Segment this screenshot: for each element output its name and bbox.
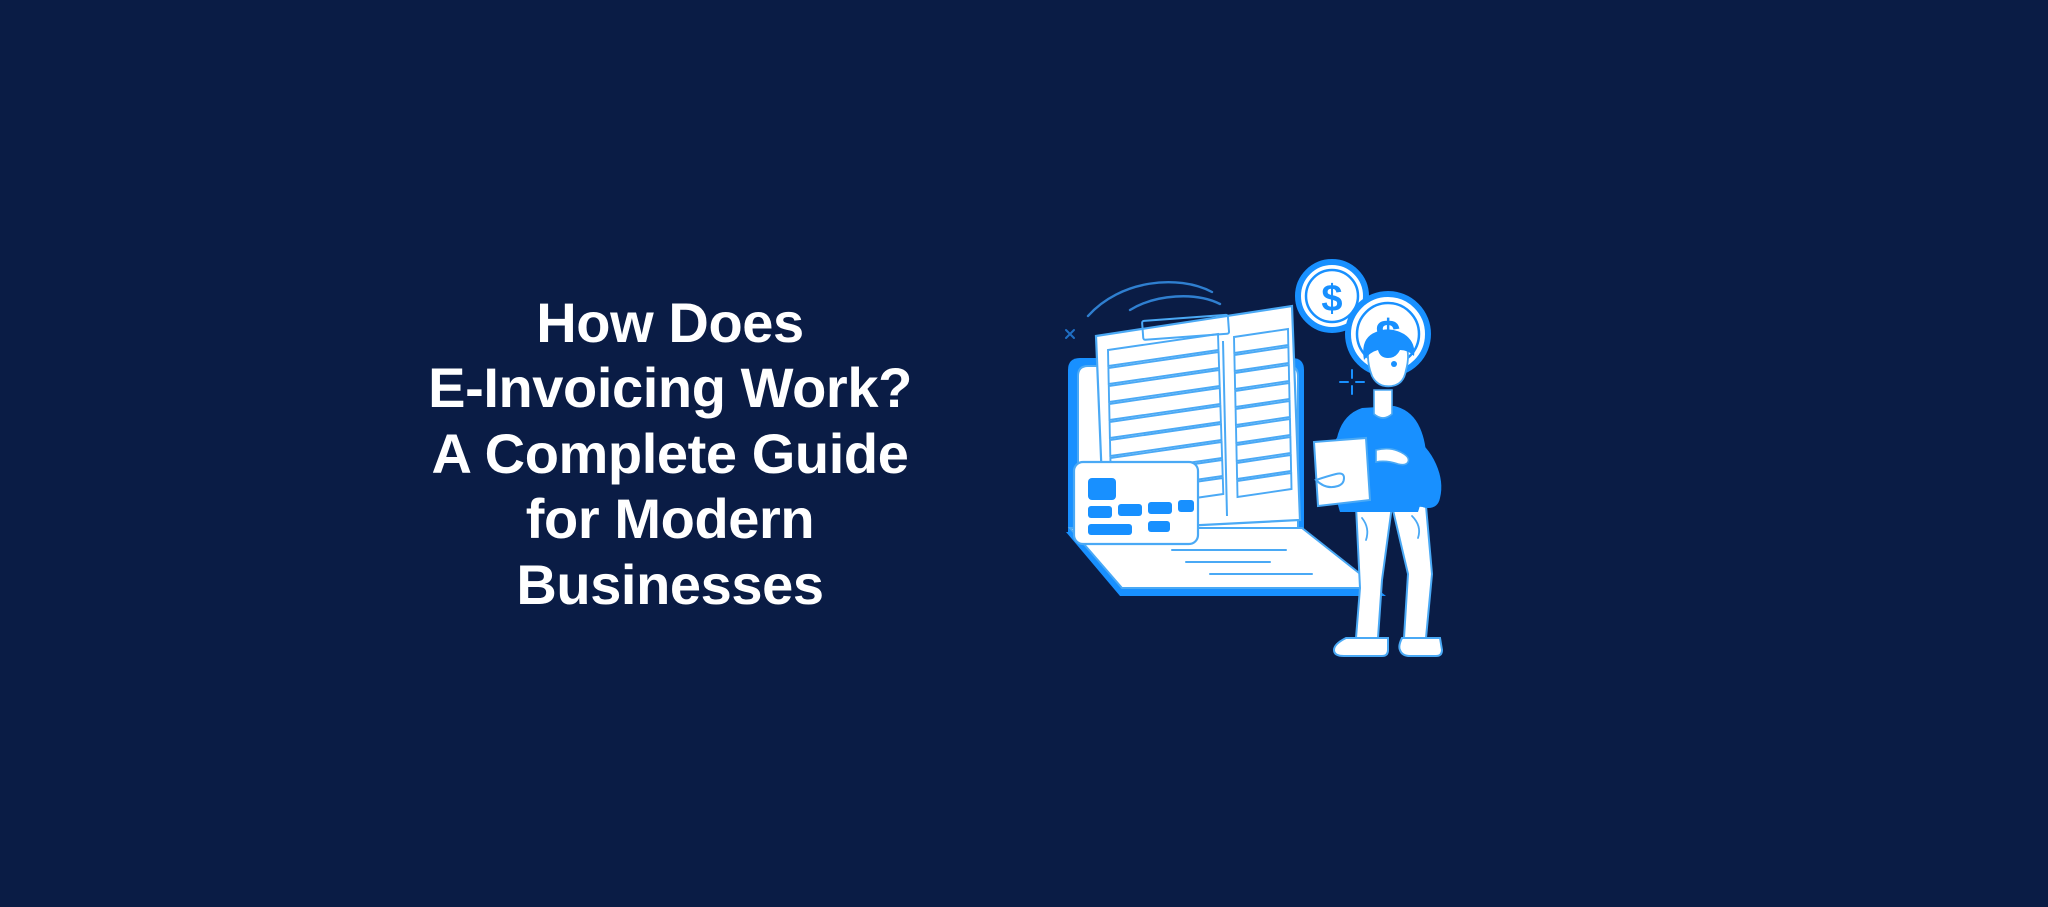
banner-root: How Does E-Invoicing Work? A Complete Gu… xyxy=(0,0,2048,907)
person-shoe-left xyxy=(1334,638,1388,656)
signal-waves-icon xyxy=(1088,282,1220,316)
person-figure xyxy=(1314,329,1442,656)
hero-illustration: $ $ xyxy=(1040,244,1500,664)
person-leg-front xyxy=(1392,506,1432,638)
person-clipboard xyxy=(1314,438,1370,506)
person-shoe-right xyxy=(1399,638,1442,656)
e-invoicing-illustration: $ $ xyxy=(1060,244,1480,664)
sparkle-accent-icon xyxy=(1340,370,1364,394)
sparkle-marks-icon xyxy=(1066,330,1074,338)
dollar-coin-small-symbol: $ xyxy=(1321,278,1342,320)
credit-card-name-bar xyxy=(1088,524,1132,535)
person-neck xyxy=(1374,390,1392,418)
credit-card xyxy=(1074,462,1198,544)
person-eye xyxy=(1391,361,1397,367)
banner-content: How Does E-Invoicing Work? A Complete Gu… xyxy=(0,0,2048,907)
page-title: How Does E-Invoicing Work? A Complete Gu… xyxy=(428,290,912,618)
credit-card-expiry-bar xyxy=(1148,521,1170,532)
hero-text-column: How Does E-Invoicing Work? A Complete Gu… xyxy=(360,290,980,618)
person-leg-back xyxy=(1356,506,1392,638)
credit-card-chip xyxy=(1088,478,1116,500)
